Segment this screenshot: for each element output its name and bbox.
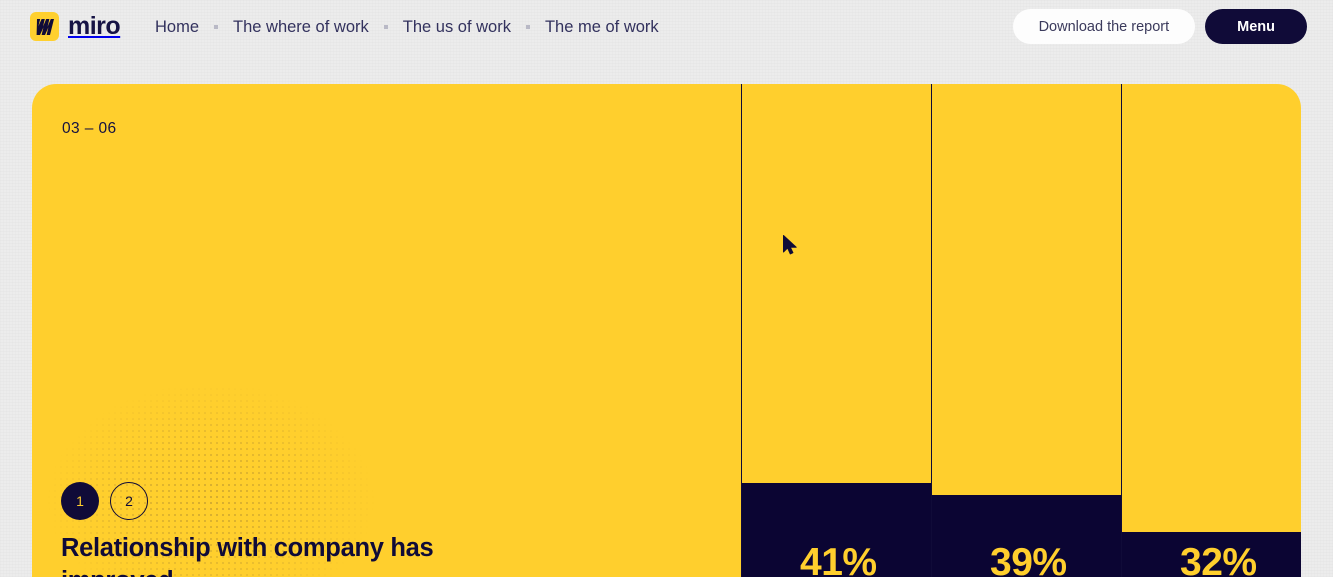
header-actions: Download the report Menu bbox=[1013, 9, 1307, 44]
bar-chart: 41% 39% 32% bbox=[709, 84, 1301, 577]
bar-column-2[interactable]: 39% bbox=[931, 84, 1121, 577]
content-panel: 03 – 06 1 2 Relationship with company ha… bbox=[32, 84, 1301, 577]
pagination-item-2[interactable]: 2 bbox=[110, 482, 148, 520]
nav-separator-dot bbox=[384, 25, 388, 29]
brand-logo-link[interactable]: miro bbox=[30, 12, 120, 41]
slide-pagination: 1 2 bbox=[61, 482, 148, 520]
pagination-item-1[interactable]: 1 bbox=[61, 482, 99, 520]
bar-value-3: 32% bbox=[1122, 543, 1301, 577]
brand-name: miro bbox=[68, 14, 120, 39]
section-number: 03 – 06 bbox=[62, 120, 117, 138]
site-header: miro Home The where of work The us of wo… bbox=[0, 0, 1333, 84]
bar-value-1: 41% bbox=[742, 543, 931, 577]
panel-headline: Relationship with company has improved bbox=[61, 532, 481, 577]
nav-item-home[interactable]: Home bbox=[153, 16, 201, 38]
nav-separator-dot bbox=[526, 25, 530, 29]
bar-column-1[interactable]: 41% bbox=[741, 84, 931, 577]
download-report-button[interactable]: Download the report bbox=[1013, 9, 1196, 44]
nav-separator-dot bbox=[214, 25, 218, 29]
nav-item-the-us-of-work[interactable]: The us of work bbox=[401, 16, 513, 38]
main-navigation: Home The where of work The us of work Th… bbox=[153, 16, 661, 38]
bar-column-3[interactable]: 32% bbox=[1121, 84, 1301, 577]
menu-button[interactable]: Menu bbox=[1205, 9, 1307, 44]
nav-item-the-where-of-work[interactable]: The where of work bbox=[231, 16, 371, 38]
nav-item-the-me-of-work[interactable]: The me of work bbox=[543, 16, 661, 38]
bar-value-2: 39% bbox=[932, 543, 1121, 577]
miro-logo-icon bbox=[30, 12, 59, 41]
